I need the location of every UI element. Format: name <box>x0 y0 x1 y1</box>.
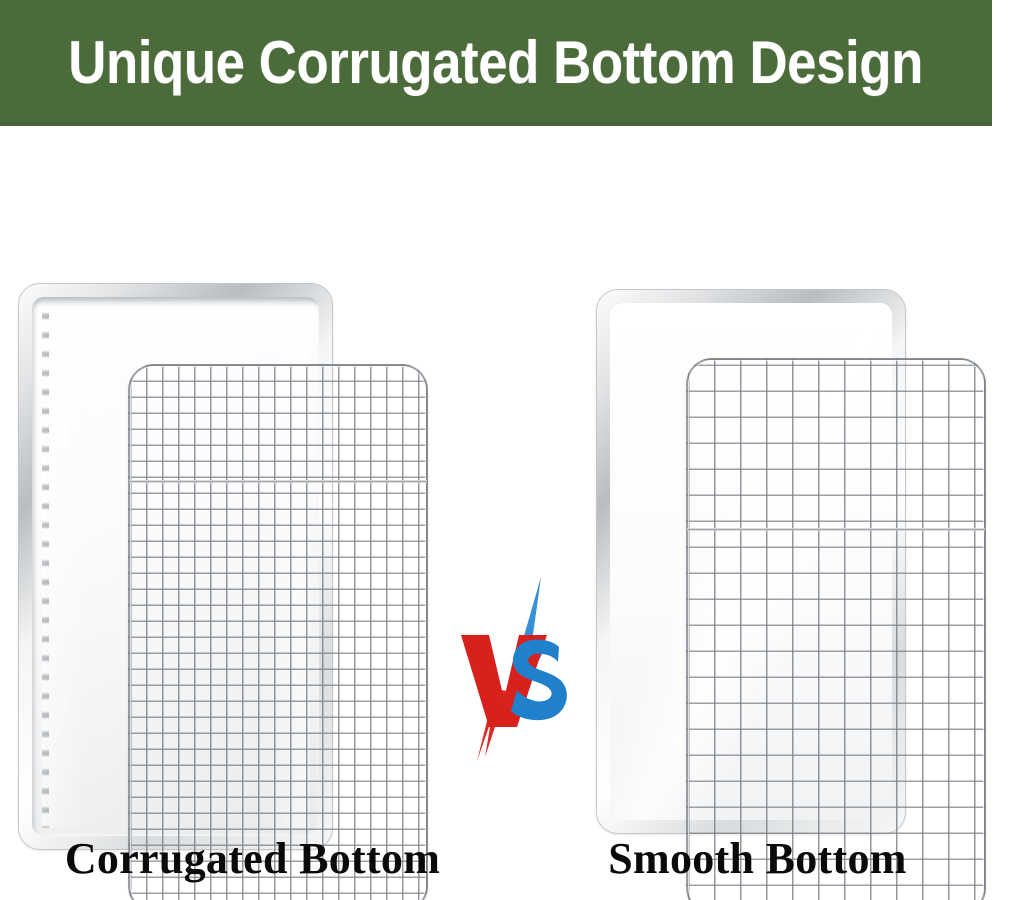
header-banner: Unique Corrugated Bottom Design <box>0 0 992 126</box>
versus-badge <box>455 571 575 761</box>
rack-crossbar-right <box>687 528 985 531</box>
product-comparison-image: Unique Corrugated Bottom Design <box>0 0 1010 900</box>
cooling-rack-right <box>686 358 986 900</box>
caption-right: Smooth Bottom <box>505 826 1010 890</box>
page-title: Unique Corrugated Bottom Design <box>69 32 924 94</box>
product-area <box>0 126 1010 826</box>
rack-crossbar-left <box>129 480 427 483</box>
caption-left: Corrugated Bottom <box>0 826 505 890</box>
cooling-rack-left <box>128 364 428 900</box>
